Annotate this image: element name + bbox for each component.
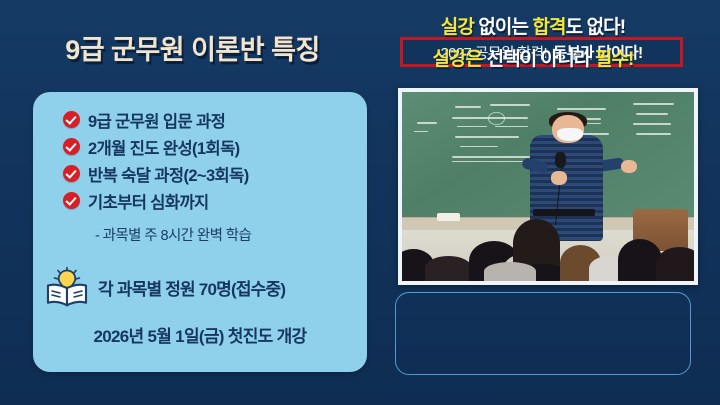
check-circle-icon xyxy=(63,192,80,209)
bottom-slogan-box xyxy=(395,292,691,375)
feature-bullet-list: 9급 군무원 입문 과정 2개월 진도 완성(1회독) 반복 숙달 과정(2~3… xyxy=(33,106,367,214)
capacity-label: 각 과목별 정원 70명(접수중) xyxy=(98,275,285,300)
slogan-plain: 없이는 xyxy=(474,17,533,38)
student-silhouette xyxy=(484,262,537,281)
bullet-label: 2개월 진도 완성(1회독) xyxy=(88,135,240,159)
list-item: 반복 숙달 과정(2~3회독) xyxy=(33,160,367,187)
slogan-highlight: 필수! xyxy=(595,49,634,70)
student-silhouette xyxy=(425,256,472,281)
bullet-label: 9급 군무원 입문 과정 xyxy=(88,108,225,132)
student-silhouette xyxy=(656,247,694,281)
capacity-row: 각 과목별 정원 70명(접수중) xyxy=(33,266,367,308)
photo-inner xyxy=(402,92,694,281)
left-column: 9급 군무원 이론반 특징 9급 군무원 입문 과정 2개월 진도 완성(1회독… xyxy=(0,0,385,405)
feature-card: 9급 군무원 입문 과정 2개월 진도 완성(1회독) 반복 숙달 과정(2~3… xyxy=(33,92,367,372)
promo-poster: 9급 군무원 이론반 특징 9급 군무원 입문 과정 2개월 진도 완성(1회독… xyxy=(0,0,720,405)
teacher-belt xyxy=(533,209,594,216)
teacher-left-hand xyxy=(551,171,567,184)
start-date-label: 2026년 5월 1일(금) 첫진도 개강 xyxy=(33,322,367,347)
teacher-right-hand xyxy=(621,160,637,173)
face-mask xyxy=(557,128,583,141)
eraser xyxy=(437,213,460,221)
bullet-label: 반복 숙달 과정(2~3회독) xyxy=(88,162,249,186)
slogan-plain: 도 없다! xyxy=(566,17,626,38)
slogan-highlight: 실강 xyxy=(441,17,474,38)
sub-note-text: - 과목별 주 8시간 완벽 학습 xyxy=(33,224,367,245)
slogan-highlight: 합격 xyxy=(532,17,565,38)
slogan-plain: 선택이 아니라 xyxy=(482,49,595,70)
check-circle-icon xyxy=(63,111,80,128)
list-item: 9급 군무원 입문 과정 xyxy=(33,106,367,133)
slogan-highlight: 실강은 xyxy=(433,49,483,70)
check-circle-icon xyxy=(63,138,80,155)
page-title: 9급 군무원 이론반 특징 xyxy=(0,28,385,67)
right-column: 2027 공무원 합격! 동부가 답이다! xyxy=(385,0,720,405)
classroom-lecture-photo xyxy=(398,88,698,285)
check-circle-icon xyxy=(63,165,80,182)
book-lightbulb-icon xyxy=(45,266,89,308)
microphone xyxy=(555,152,566,167)
list-item: 기초부터 심화까지 xyxy=(33,187,367,214)
student-silhouette xyxy=(513,219,560,268)
bottom-slogan-line-2: 실강은 선택이 아니라 필수! xyxy=(385,44,681,71)
list-item: 2개월 진도 완성(1회독) xyxy=(33,133,367,160)
bullet-label: 기초부터 심화까지 xyxy=(88,189,209,213)
bottom-slogan-line-1: 실강 없이는 합격도 없다! xyxy=(385,12,681,39)
